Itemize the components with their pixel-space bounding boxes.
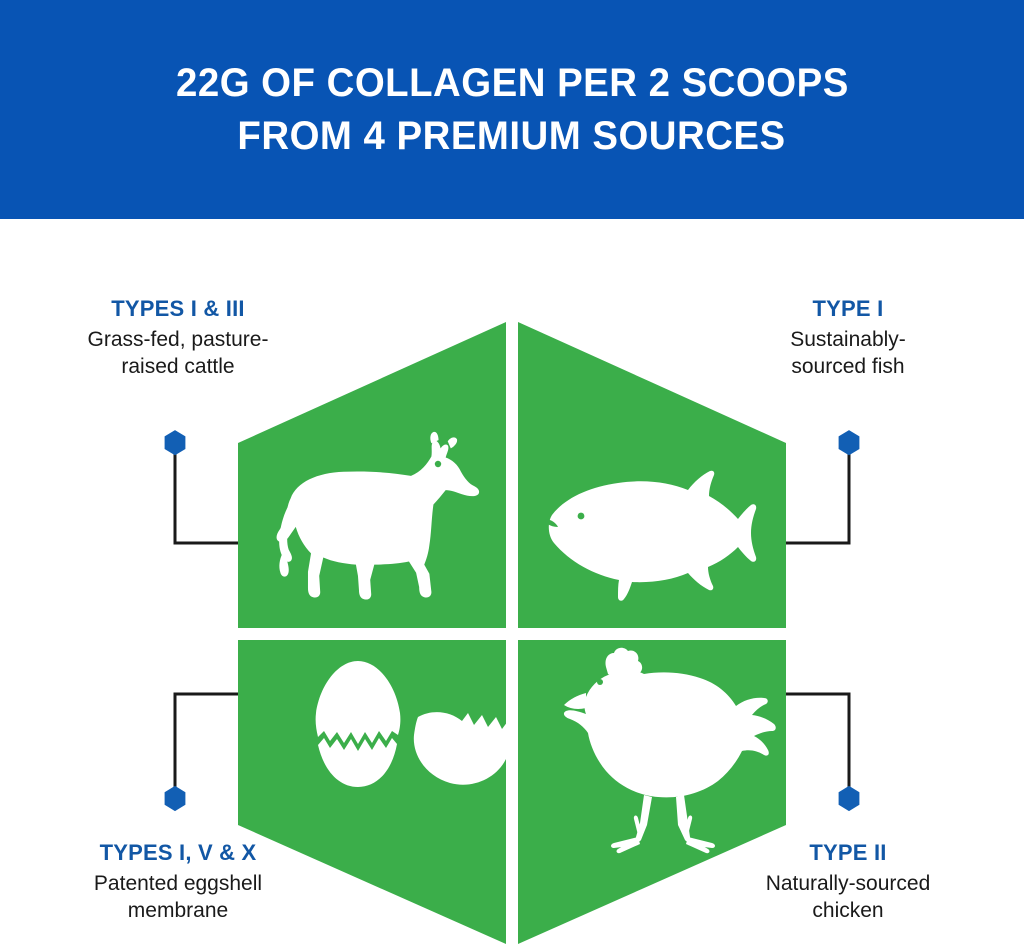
callout-chicken-description-line-2: chicken <box>698 897 998 924</box>
callout-cattle-description-line-2: raised cattle <box>28 353 328 380</box>
chicken-eye <box>597 679 603 685</box>
callout-egg-description-line-2: membrane <box>28 897 328 924</box>
callout-fish-title: TYPE I <box>698 296 998 323</box>
callout-fish-description-line-1: Sustainably- <box>698 326 998 353</box>
connector-cattle <box>165 430 245 543</box>
connector-fish <box>779 430 859 543</box>
callout-cattle-description-line-1: Grass-fed, pasture- <box>28 326 328 353</box>
callout-chicken: TYPE II Naturally-sourced chicken <box>698 840 998 924</box>
callout-chicken-title: TYPE II <box>698 840 998 867</box>
callout-egg-title: TYPES I, V & X <box>28 840 328 867</box>
fish-eye <box>578 513 585 520</box>
callout-cattle: TYPES I & III Grass-fed, pasture- raised… <box>28 296 328 380</box>
header-banner: 22G OF COLLAGEN PER 2 SCOOPS FROM 4 PREM… <box>0 0 1024 219</box>
callout-fish-description-line-2: sourced fish <box>698 353 998 380</box>
cow-eye <box>435 461 441 467</box>
banner-headline-line-2: FROM 4 PREMIUM SOURCES <box>238 110 786 163</box>
hexagon-marker-cattle <box>165 430 186 455</box>
hexagon-marker-fish <box>839 430 860 455</box>
connector-egg <box>165 694 245 811</box>
infographic-page: 22G OF COLLAGEN PER 2 SCOOPS FROM 4 PREM… <box>0 0 1024 950</box>
callout-chicken-description-line-1: Naturally-sourced <box>698 870 998 897</box>
callout-fish: TYPE I Sustainably- sourced fish <box>698 296 998 380</box>
hexagon-marker-egg <box>165 786 186 811</box>
banner-headline-line-1: 22G OF COLLAGEN PER 2 SCOOPS <box>176 57 849 110</box>
connector-chicken <box>779 694 859 811</box>
hexagon-marker-chicken <box>839 786 860 811</box>
callout-egg: TYPES I, V & X Patented eggshell membran… <box>28 840 328 924</box>
callout-egg-description-line-1: Patented eggshell <box>28 870 328 897</box>
callout-cattle-title: TYPES I & III <box>28 296 328 323</box>
